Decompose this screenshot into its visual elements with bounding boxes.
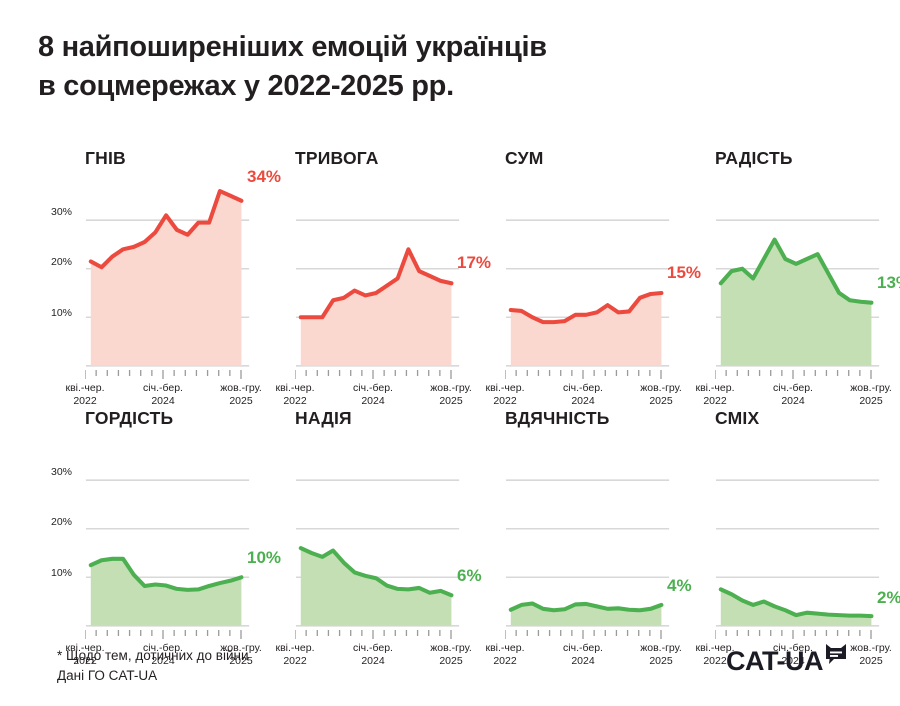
x-tick-year: 2025 bbox=[439, 655, 462, 667]
x-tick-year: 2024 bbox=[571, 655, 594, 667]
chart-panel-надія: НАДІЯ6%кві.-чер.2022січ.-бер.2024жов.-гр… bbox=[248, 400, 463, 650]
x-tick-label: січ.-бер.2024 bbox=[337, 642, 409, 668]
x-tick-period: кві.-чер. bbox=[486, 382, 525, 394]
y-axis-label-10: 10% bbox=[38, 307, 72, 319]
x-tick-period: січ.-бер. bbox=[143, 382, 183, 394]
logo-text: CAT-UA bbox=[726, 648, 823, 675]
page-title: 8 найпоширеніших емоцій українців в соцм… bbox=[38, 28, 798, 105]
chart-panel-сум: СУМ15%кві.-чер.2022січ.-бер.2024жов.-гру… bbox=[458, 140, 673, 390]
chart-title-радість: РАДІСТЬ bbox=[715, 148, 793, 169]
x-tick-year: 2022 bbox=[493, 655, 516, 667]
x-tick-period: жов.-гру. bbox=[850, 642, 892, 654]
end-value-label-сміх: 2% bbox=[877, 588, 900, 608]
y-axis-label-20: 20% bbox=[38, 256, 72, 268]
x-tick-period: січ.-бер. bbox=[353, 642, 393, 654]
x-tick-period: січ.-бер. bbox=[563, 642, 603, 654]
footnote-line-1: * Щодо тем, дотичних до війни bbox=[57, 646, 249, 666]
x-tick-year: 2025 bbox=[649, 655, 672, 667]
plot-area-сміх bbox=[715, 438, 900, 638]
y-axis-label-30: 30% bbox=[38, 206, 72, 218]
x-tick-period: кві.-чер. bbox=[276, 642, 315, 654]
plot-area-радість bbox=[715, 178, 900, 378]
x-tick-year: 2022 bbox=[283, 655, 306, 667]
x-tick-year: 2022 bbox=[703, 655, 726, 667]
title-line-1: 8 найпоширеніших емоцій українців bbox=[38, 28, 798, 67]
chart-title-гордість: ГОРДІСТЬ bbox=[85, 408, 173, 429]
y-axis-label-10: 10% bbox=[38, 567, 72, 579]
footnote: * Щодо тем, дотичних до війни Дані ГО CA… bbox=[57, 646, 249, 685]
x-tick-year: 2024 bbox=[361, 655, 384, 667]
x-tick-label: кві.-чер.2022 bbox=[469, 642, 541, 668]
title-line-2: в соцмережах у 2022-2025 рр. bbox=[38, 67, 798, 106]
x-tick-period: січ.-бер. bbox=[773, 382, 813, 394]
y-axis-label-30: 30% bbox=[38, 466, 72, 478]
chart-panel-гнів: ГНІВ34%10%20%30%кві.-чер.2022січ.-бер.20… bbox=[38, 140, 253, 390]
chart-panel-гордість: ГОРДІСТЬ10%10%20%30%кві.-чер.2022січ.-бе… bbox=[38, 400, 253, 650]
chart-panel-радість: РАДІСТЬ13%кві.-чер.2022січ.-бер.2024жов.… bbox=[668, 140, 883, 390]
x-tick-period: кві.-чер. bbox=[66, 382, 105, 394]
x-tick-period: жов.-гру. bbox=[850, 382, 892, 394]
x-tick-label: кві.-чер.2022 bbox=[259, 642, 331, 668]
x-tick-period: січ.-бер. bbox=[563, 382, 603, 394]
x-tick-year: 2025 bbox=[859, 655, 882, 667]
end-value-label-радість: 13% bbox=[877, 273, 900, 293]
x-tick-period: січ.-бер. bbox=[353, 382, 393, 394]
chart-title-гнів: ГНІВ bbox=[85, 148, 126, 169]
chart-panel-тривога: ТРИВОГА17%кві.-чер.2022січ.-бер.2024жов.… bbox=[248, 140, 463, 390]
chart-panel-вдячність: ВДЯЧНІСТЬ4%кві.-чер.2022січ.-бер.2024жов… bbox=[458, 400, 673, 650]
x-tick-period: кві.-чер. bbox=[696, 382, 735, 394]
x-tick-label: січ.-бер.2024 bbox=[547, 642, 619, 668]
chart-title-тривога: ТРИВОГА bbox=[295, 148, 379, 169]
x-tick-period: кві.-чер. bbox=[276, 382, 315, 394]
cat-ua-logo: CAT-UA bbox=[726, 648, 850, 675]
chart-title-сум: СУМ bbox=[505, 148, 543, 169]
cat-head-speech-bubble-icon bbox=[824, 642, 850, 671]
chart-title-надія: НАДІЯ bbox=[295, 408, 352, 429]
y-axis-label-20: 20% bbox=[38, 516, 72, 528]
chart-title-сміх: СМІХ bbox=[715, 408, 759, 429]
chart-title-вдячність: ВДЯЧНІСТЬ bbox=[505, 408, 610, 429]
chart-panel-сміх: СМІХ2%кві.-чер.2022січ.-бер.2024жов.-гру… bbox=[668, 400, 883, 650]
x-tick-period: кві.-чер. bbox=[486, 642, 525, 654]
footnote-line-2: Дані ГО CAT-UA bbox=[57, 666, 249, 686]
